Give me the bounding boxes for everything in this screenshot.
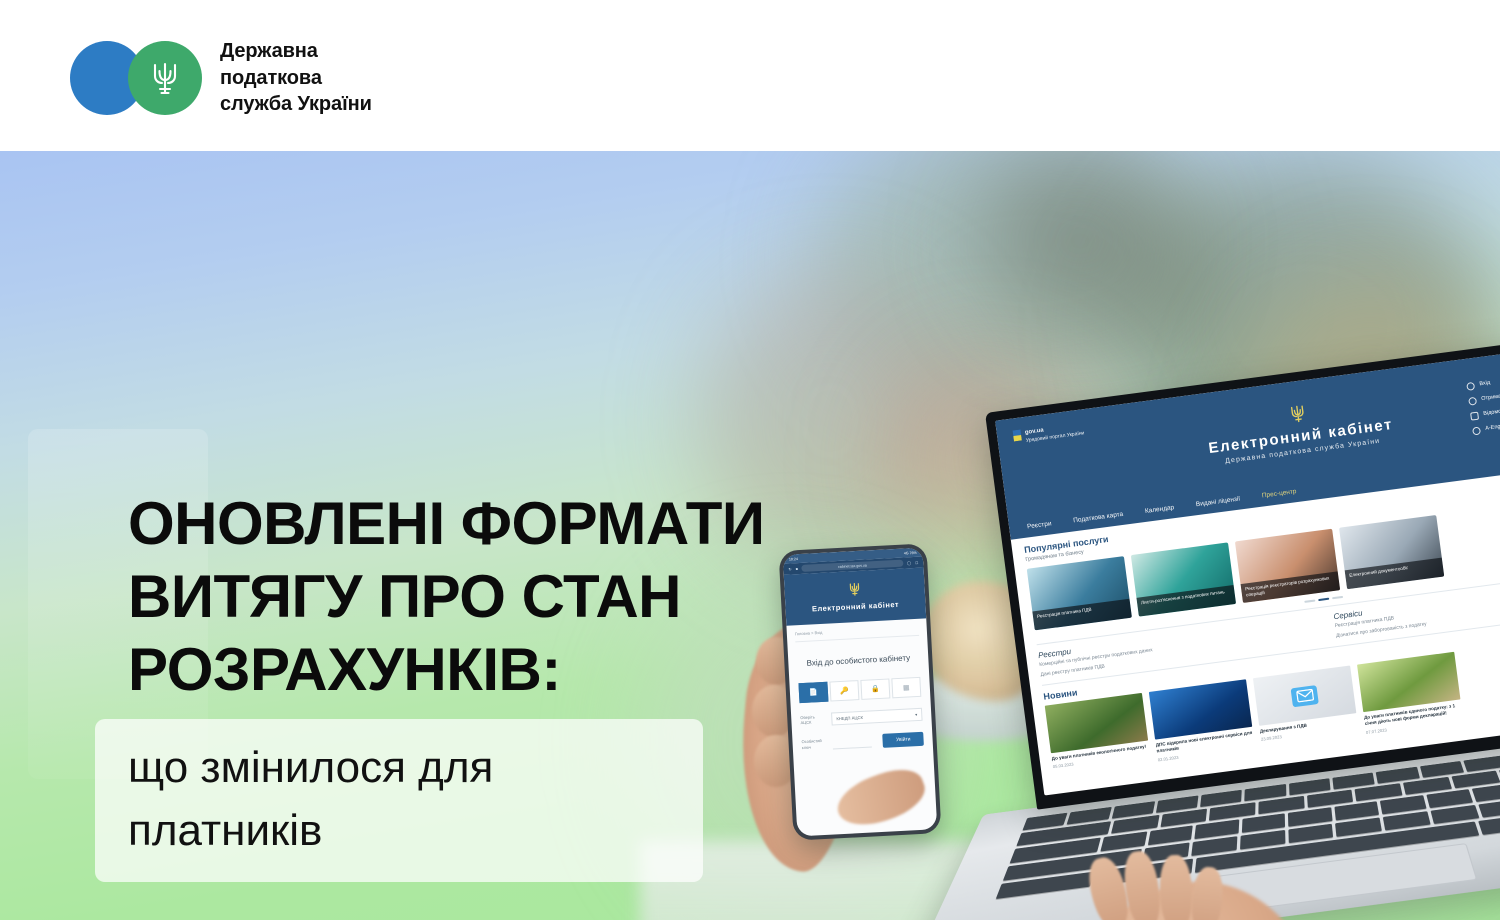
banner-page: Державна податкова служба України xyxy=(0,0,1500,920)
nav-item-calendar[interactable]: Календар xyxy=(1145,504,1175,515)
page-title: ОНОВЛЕНІ ФОРМАТИ ВИТЯГУ ПРО СТАН РОЗРАХУ… xyxy=(128,487,908,706)
page-subtitle: що змінилося для платників xyxy=(128,736,698,862)
submit-button[interactable]: Увійти xyxy=(883,731,924,747)
service-tile[interactable]: Електронний документообіг xyxy=(1339,515,1444,589)
acsk-value: КНЕДП АЦСК xyxy=(836,714,863,720)
tabs-icon[interactable]: ◻ xyxy=(915,560,918,565)
service-tile[interactable]: Реєстрація реєстраторів розрахункових оп… xyxy=(1235,529,1340,603)
background-blur-blob xyxy=(820,151,1240,411)
question-icon xyxy=(1468,397,1477,406)
service-tile[interactable]: Реєстрація платника ПДВ xyxy=(1027,556,1132,630)
globe-icon xyxy=(1472,427,1481,436)
news-card[interactable]: До уваги платників екологічного податку!… xyxy=(1045,693,1151,776)
news-card[interactable]: Декларування з ПДВ 23.09.2023 xyxy=(1253,666,1359,749)
news-thumbnail xyxy=(1253,666,1356,726)
utility-label: Вхід xyxy=(1479,380,1491,389)
card-icon xyxy=(1470,412,1479,421)
title-line-2: ВИТЯГУ ПРО СТАН xyxy=(128,560,908,633)
carousel-dot[interactable] xyxy=(1332,596,1343,599)
gov-flag-icon xyxy=(1013,430,1022,442)
utility-label: Отримати консультацію xyxy=(1481,388,1500,403)
green-circle-icon xyxy=(128,41,202,115)
service-tile[interactable]: Листи-роз'яснення з податкових питань xyxy=(1131,542,1236,616)
carousel-dot-active[interactable] xyxy=(1318,598,1329,601)
news-thumbnail xyxy=(1357,652,1460,712)
background-blur-blob xyxy=(980,151,1180,331)
carousel-dot[interactable] xyxy=(1304,600,1315,603)
chevron-down-icon: ▾ xyxy=(915,712,917,717)
nav-item-registries[interactable]: Реєстри xyxy=(1027,520,1052,530)
subtitle-line-1: що змінилося для xyxy=(128,736,698,799)
organization-logo[interactable]: Державна податкова служба України xyxy=(70,38,372,118)
site-header: Державна податкова служба України xyxy=(0,0,1500,151)
nav-item-press-center[interactable]: Прес-центр xyxy=(1262,488,1297,499)
utility-label: A-English xyxy=(1485,423,1500,433)
key-field-row[interactable]: Особистий ключ Увійти xyxy=(801,731,924,751)
acsk-select-field[interactable]: Оберіть АЦСК КНЕДП АЦСК ▾ xyxy=(800,707,923,726)
subtitle-line-2: платників xyxy=(128,799,698,862)
news-card[interactable]: До уваги платників єдиного податку: з 1 … xyxy=(1357,652,1463,735)
news-card[interactable]: ДПС відкрила нові електронні сервіси для… xyxy=(1149,679,1255,762)
logo-marks xyxy=(70,41,202,115)
ukraine-trident-icon xyxy=(1288,402,1307,425)
acsk-label: Оберіть АЦСК xyxy=(800,714,827,726)
nav-item-licenses[interactable]: Видані ліцензії xyxy=(1196,495,1241,508)
laptop-screen: gov.ua Урядовий портал України xyxy=(995,342,1500,795)
organization-name: Державна податкова служба України xyxy=(220,38,372,118)
news-thumbnail xyxy=(1149,679,1252,739)
laptop-screen-lid: gov.ua Урядовий портал України xyxy=(985,332,1500,810)
title-line-1: ОНОВЛЕНІ ФОРМАТИ xyxy=(128,487,908,560)
ukraine-trident-icon xyxy=(150,58,180,98)
utility-label: Відомості з Держреєстру xyxy=(1483,403,1500,419)
acsk-select[interactable]: КНЕДП АЦСК ▾ xyxy=(831,707,923,725)
title-line-3: РОЗРАХУНКІВ: xyxy=(128,633,908,706)
envelope-icon xyxy=(1291,685,1319,707)
key-input[interactable] xyxy=(832,735,872,750)
key-label: Особистий ключ xyxy=(801,738,828,750)
laptop-device: gov.ua Урядовий портал України xyxy=(985,322,1500,879)
nav-item-tax-map[interactable]: Податкова карта xyxy=(1073,511,1124,525)
hero-section: gov.ua Урядовий портал України xyxy=(0,151,1500,920)
user-icon xyxy=(1466,382,1475,391)
news-thumbnail xyxy=(1045,693,1148,753)
